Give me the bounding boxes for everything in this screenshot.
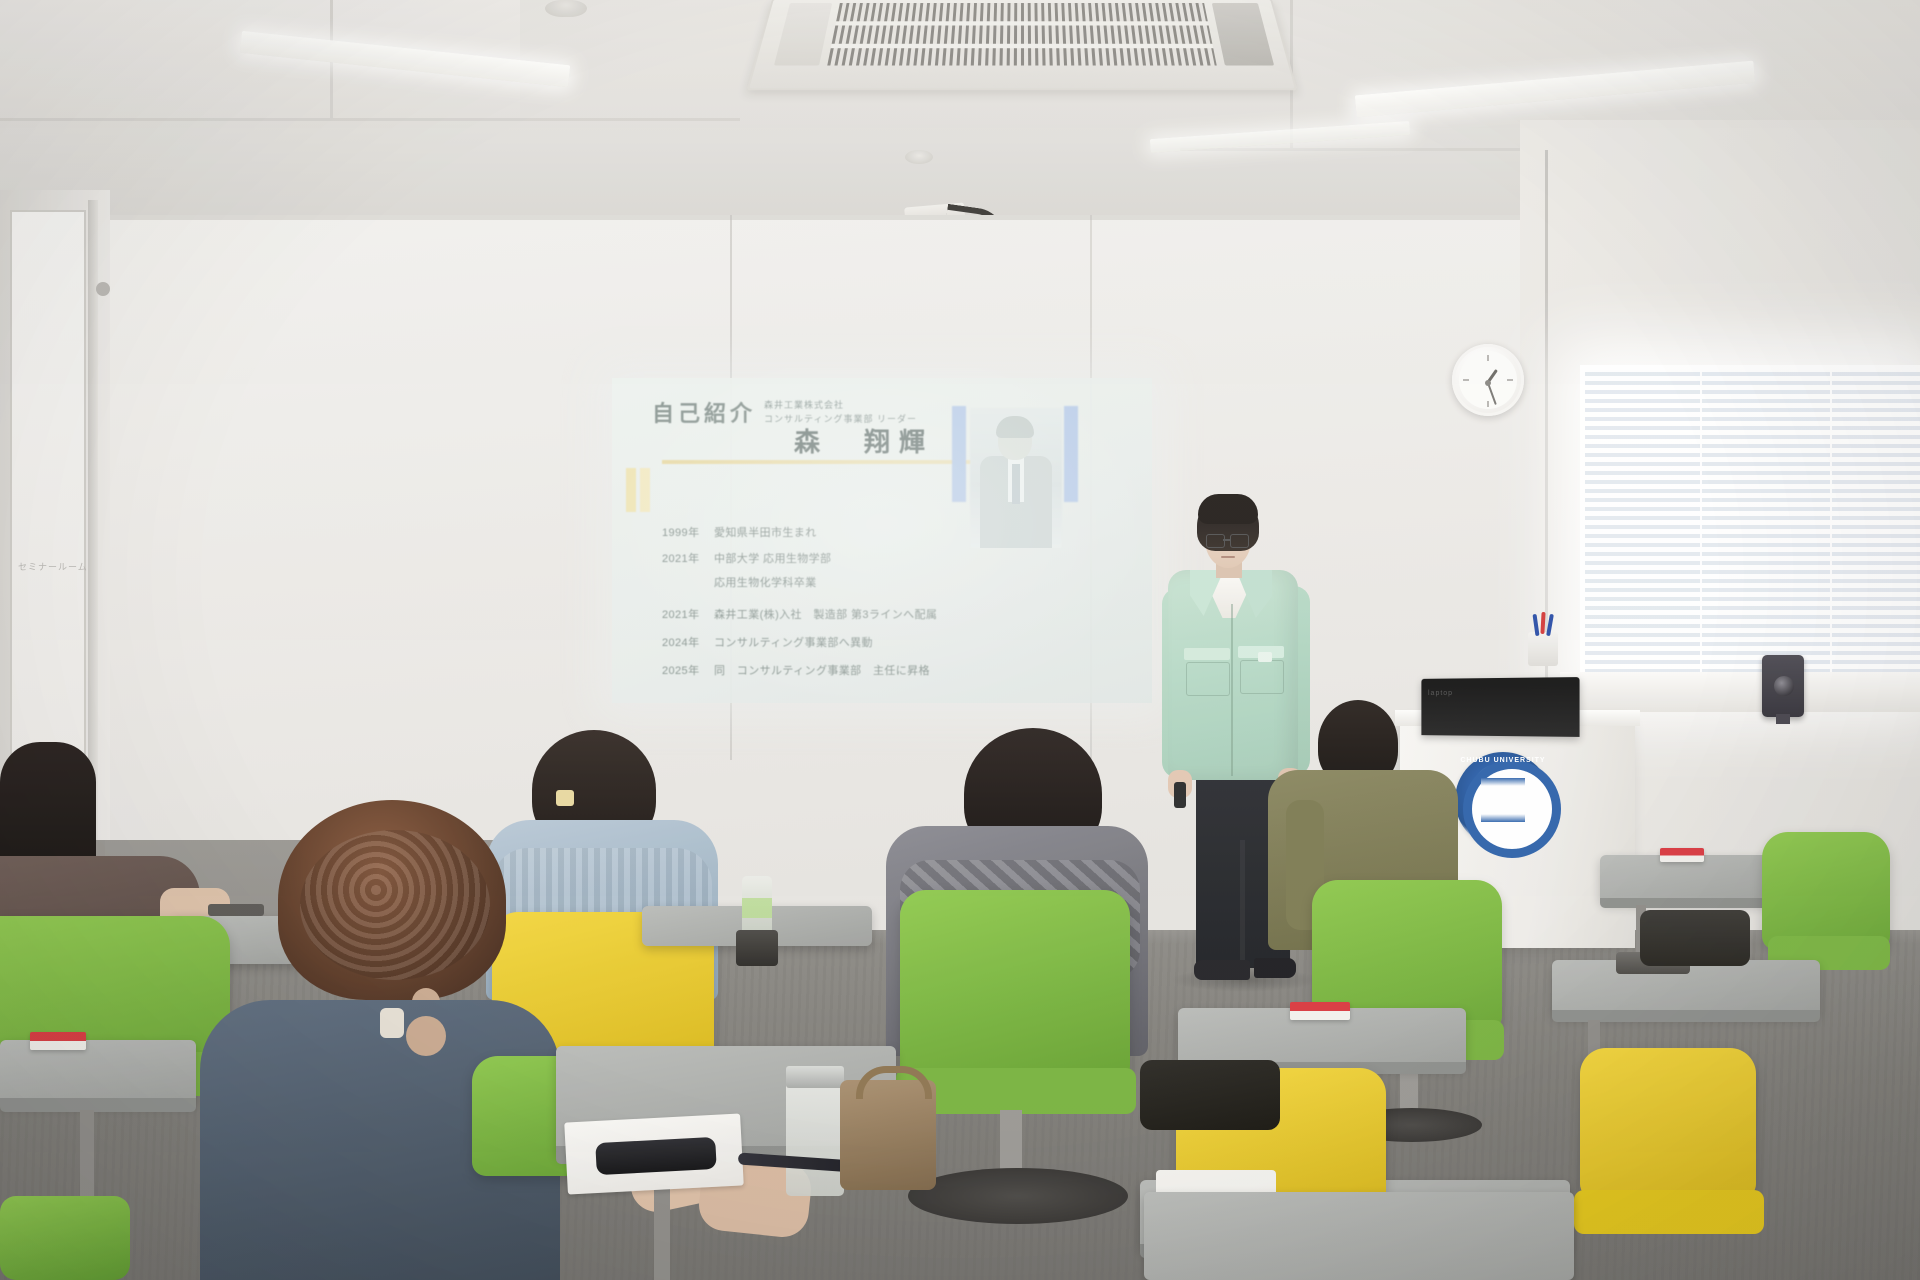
hair-curl-texture (300, 830, 490, 980)
door-hinge-icon (96, 282, 110, 296)
slide-timeline-row: 1999年愛知県半田市生まれ (662, 524, 817, 540)
clock-tick (1487, 401, 1489, 407)
glasses-icon (1206, 534, 1225, 548)
slide-timeline-year: 2024年 (662, 634, 714, 650)
bottle-cap (786, 1066, 844, 1088)
university-logo-crest (1481, 778, 1525, 822)
desk-leg (80, 1110, 94, 1198)
slide-company-name: 森井工業株式会社 (764, 398, 844, 411)
jacket-pocket (1240, 660, 1284, 694)
window-sill (1560, 672, 1920, 712)
desk-tent-card (1290, 1002, 1350, 1020)
slide-heading: 自己紹介 (652, 396, 756, 428)
eyeglass-case (595, 1137, 717, 1175)
desk-cup-holder (736, 930, 778, 966)
chair-foreground-left[interactable] (0, 1196, 130, 1280)
presenter-fringe (1198, 494, 1258, 524)
ac-vent-icon (774, 3, 832, 65)
hair-clip-icon (556, 790, 574, 806)
ceiling-ac-unit (747, 0, 1298, 90)
slide-timeline-row: 2024年コンサルティング事業部へ異動 (662, 634, 873, 650)
trouser-seam (1240, 840, 1245, 968)
ceiling-speaker-icon (905, 150, 933, 164)
jacket-badge-icon (1258, 652, 1272, 662)
wall-trim (105, 215, 1575, 220)
projected-slide: 自己紹介 森井工業株式会社 コンサルティング事業部 リーダー 森 翔輝 1999… (612, 378, 1152, 703)
smoke-detector-icon (545, 0, 587, 17)
clock-tick (1463, 379, 1469, 381)
slide-photo-accent (952, 406, 966, 502)
slide-timeline-year: 2021年 (662, 550, 714, 566)
chair-seat (1574, 1190, 1764, 1234)
university-logo-top-text: CHUBU UNIVERSITY (1455, 757, 1551, 764)
glasses-icon (1230, 534, 1249, 548)
clock-tick (1507, 379, 1513, 381)
slide-timeline-text: 中部大学 応用生物学部 (714, 553, 831, 565)
ac-grille-icon (827, 3, 1217, 65)
university-logo-bottom-text: AICHI JAPAN (1455, 828, 1551, 834)
desk-edge (0, 1098, 196, 1112)
desk-device (208, 904, 264, 916)
presenter-remote-clicker[interactable] (1174, 782, 1186, 808)
slide-timeline-row: 2021年中部大学 応用生物学部 (662, 550, 831, 566)
jacket-button-seam (1231, 604, 1233, 776)
ac-vent-icon (1212, 3, 1274, 65)
podium-laptop[interactable] (1421, 677, 1579, 737)
photo-scene: EPSON セミナールーム 自己紹介 森井工業株式会社 コンサルティング事業部 … (0, 0, 1920, 1280)
slide-photo-accent (1064, 406, 1078, 502)
chair-stem (1000, 1110, 1022, 1176)
clock-center-pin (1485, 380, 1491, 386)
chair-backrest (900, 890, 1130, 1080)
laptop-brand-label: laptop (1428, 690, 1453, 697)
camera-stand (1776, 714, 1790, 724)
glass-door-panel[interactable] (10, 210, 86, 824)
slide-timeline-row: 2021年森井工業(株)入社 製造部 第3ラインへ配属 (662, 606, 937, 622)
presenter-shoe (1254, 958, 1296, 978)
chair-backrest (1580, 1048, 1756, 1198)
attendee-neck (406, 1016, 446, 1056)
desk-tent-card (1660, 848, 1704, 862)
slide-timeline-row: 2025年同 コンサルティング事業部 主任に昇格 (662, 662, 930, 678)
slide-timeline-text: コンサルティング事業部へ異動 (714, 637, 873, 649)
blind-cord[interactable] (1700, 372, 1702, 672)
slide-timeline-text: 応用生物化学科卒業 (714, 577, 817, 589)
slide-presenter-name: 森 翔輝 (794, 422, 934, 459)
slide-accent-bar (640, 468, 650, 512)
bottle-label (742, 898, 772, 918)
earring-icon (380, 1008, 404, 1038)
slide-timeline-row: 応用生物化学科卒業 (662, 574, 817, 590)
presenter-shoe (1194, 960, 1250, 980)
slide-timeline-text: 同 コンサルティング事業部 主任に昇格 (714, 665, 930, 677)
desk-tent-card (30, 1032, 86, 1050)
pen-cup (1528, 632, 1558, 666)
ceiling-line (0, 118, 740, 121)
ac-grille-band (831, 44, 1214, 48)
desk-surface (0, 1040, 196, 1104)
window-blinds[interactable] (1585, 372, 1920, 672)
portrait-tie (1012, 464, 1020, 504)
desk-surface (1144, 1192, 1574, 1280)
glasses-bridge-icon (1223, 539, 1230, 541)
camera-lens-icon (1774, 676, 1794, 696)
slide-timeline-year: 2025年 (662, 662, 714, 678)
jacket-pocket (1186, 662, 1230, 696)
slide-timeline-text: 愛知県半田市生まれ (714, 527, 817, 539)
blind-cord[interactable] (1830, 372, 1832, 672)
clock-tick (1487, 355, 1489, 361)
door-frame (88, 200, 98, 840)
desk-water-bottle (786, 1078, 844, 1196)
chair-base (908, 1168, 1128, 1224)
bag-under-desk (1640, 910, 1750, 966)
portrait-hair (996, 416, 1034, 438)
slide-timeline-text: 森井工業(株)入社 製造部 第3ラインへ配属 (714, 609, 937, 621)
slide-timeline-year: 2021年 (662, 606, 714, 622)
presenter-mouth (1221, 556, 1235, 558)
slide-timeline-year: 1999年 (662, 524, 714, 540)
backpack-under-desk (1140, 1060, 1280, 1130)
door-sign-label: セミナールーム (18, 560, 88, 573)
slide-divider (662, 460, 982, 464)
jacket-pocket-flap (1184, 648, 1230, 660)
slide-accent-bar (626, 468, 636, 512)
ac-grille-band (835, 21, 1208, 25)
chair-backrest (1762, 832, 1890, 950)
